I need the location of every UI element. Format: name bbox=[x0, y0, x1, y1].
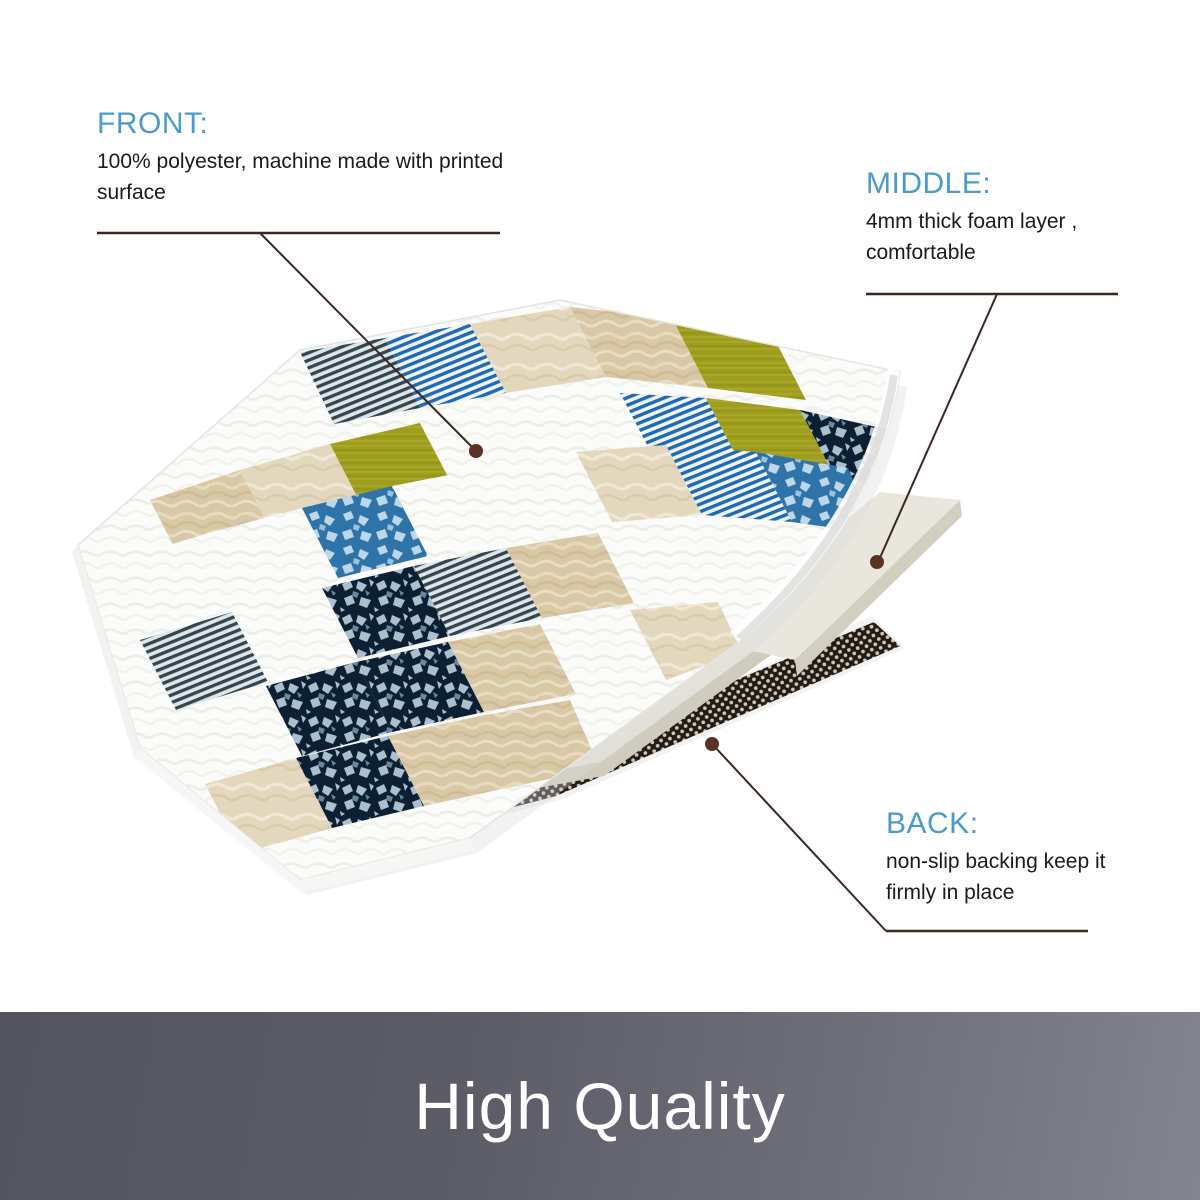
back-leader bbox=[714, 746, 886, 931]
callout-back-title: BACK: bbox=[886, 808, 1158, 840]
infographic-stage: FRONT: 100% polyester, machine made with… bbox=[0, 0, 1200, 1200]
callout-middle: MIDDLE: 4mm thick foam layer , comfortab… bbox=[866, 168, 1128, 268]
front-anchor-dot bbox=[469, 444, 483, 458]
back-anchor-dot bbox=[705, 737, 719, 751]
banner-title: High Quality bbox=[414, 1073, 786, 1139]
callout-front-body: 100% polyester, machine made with printe… bbox=[97, 146, 512, 208]
callout-front: FRONT: 100% polyester, machine made with… bbox=[97, 108, 512, 208]
middle-anchor-dot bbox=[870, 555, 884, 569]
callout-back-body: non-slip backing keep it firmly in place bbox=[886, 846, 1158, 908]
high-quality-banner: High Quality bbox=[0, 1012, 1200, 1200]
callout-front-title: FRONT: bbox=[97, 108, 512, 140]
callout-middle-title: MIDDLE: bbox=[866, 168, 1128, 200]
callout-back: BACK: non-slip backing keep it firmly in… bbox=[886, 808, 1158, 908]
callout-middle-body: 4mm thick foam layer , comfortable bbox=[866, 206, 1128, 268]
